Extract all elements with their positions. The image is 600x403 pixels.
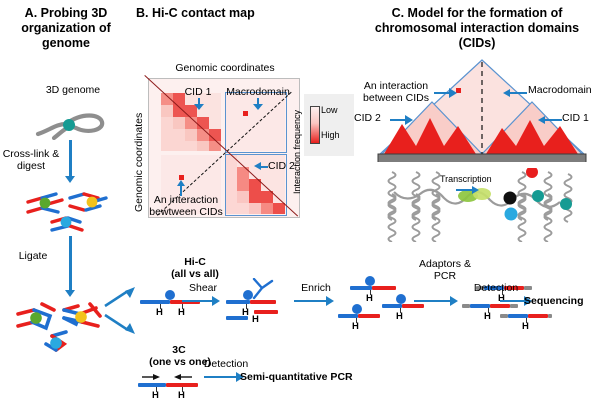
panel-c-interaction-annotation: An interaction between CIDs xyxy=(358,80,434,104)
restriction-site-label: H xyxy=(396,311,403,322)
cid1-annotation: CID 1 xyxy=(178,86,218,98)
panel-b-title: B. Hi-C contact map xyxy=(136,6,296,21)
branch-arrow-3c xyxy=(104,312,138,336)
legend-title: Interaction frequency xyxy=(292,100,303,204)
panel-c-cid2-annotation: CID 2 xyxy=(354,112,390,124)
hic-adaptors-arrow xyxy=(414,296,462,306)
panel-c-cid1-arrow xyxy=(538,115,562,125)
hic-name: Hi-C xyxy=(170,256,220,268)
genome-loop-icon xyxy=(32,108,112,140)
threec-result-pcr: Semi-quantitative PCR xyxy=(240,371,410,383)
interaction-annotation-arrow xyxy=(176,180,186,196)
hic-shear-arrow xyxy=(182,296,224,306)
restriction-site-label: H xyxy=(156,307,163,318)
restriction-site-label: H xyxy=(178,390,185,401)
hic-step-detection: Detection xyxy=(466,282,526,294)
hic-enriched-fragments: H H H xyxy=(338,272,424,330)
transcription-label: Transcription xyxy=(440,174,504,184)
panel-c-macrodomain-arrow xyxy=(503,88,527,98)
crosslink-arrow xyxy=(64,140,76,184)
restriction-site-label: H xyxy=(522,321,529,332)
panel-a-genome-label: 3D genome xyxy=(38,84,108,96)
hic-enrich-arrow xyxy=(294,296,338,306)
legend-high-label: High xyxy=(321,130,349,140)
restriction-site-label: H xyxy=(252,314,259,325)
panel-a-title: A. Probing 3D organization of genome xyxy=(2,6,130,51)
panel-a-step1-label: Cross-link & digest xyxy=(0,148,62,172)
legend-colorbar xyxy=(310,106,320,144)
interaction-annotation: An interaction bewtween CIDs xyxy=(140,194,232,218)
threec-step-detection: Detection xyxy=(196,358,256,370)
restriction-site-label: H xyxy=(484,311,491,322)
hic-result-sequencing: Sequencing xyxy=(524,295,598,307)
cid1-annotation-arrow xyxy=(194,98,204,110)
panel-b-x-axis-label: Genomic coordinates xyxy=(150,62,300,74)
hic-step-shear: Shear xyxy=(182,282,224,294)
branch-arrow-hic xyxy=(104,286,138,308)
cid-model-diagram xyxy=(372,58,592,162)
hic-subtitle: (all vs all) xyxy=(160,268,230,280)
transcription-arrow xyxy=(456,186,482,194)
legend-low-label: Low xyxy=(321,105,349,115)
panel-c-cid1-annotation: CID 1 xyxy=(562,112,598,124)
panel-c-cid2-arrow xyxy=(390,115,414,125)
hic-sheared-fragments: H H xyxy=(226,278,300,326)
cid2-annotation-arrow xyxy=(254,162,268,172)
macrodomain-annotation: Macrodomain xyxy=(222,86,294,98)
restriction-site-label: H xyxy=(152,390,159,401)
restriction-site-label: H xyxy=(352,321,359,332)
panel-c-title: C. Model for the formation of chromosoma… xyxy=(356,6,598,51)
digested-fragments-icon xyxy=(22,188,122,236)
panel-c-macrodomain-annotation: Macrodomain xyxy=(528,84,600,96)
restriction-site-label: H xyxy=(178,307,185,318)
threec-name: 3C xyxy=(156,344,202,356)
hic-step-enrich: Enrich xyxy=(294,282,338,294)
ligate-arrow xyxy=(64,236,76,298)
restriction-site-label: H xyxy=(366,293,373,304)
panel-c-interaction-arrow xyxy=(434,88,458,98)
macrodomain-annotation-arrow xyxy=(253,98,263,110)
panel-a-step2-label: Ligate xyxy=(6,250,60,262)
